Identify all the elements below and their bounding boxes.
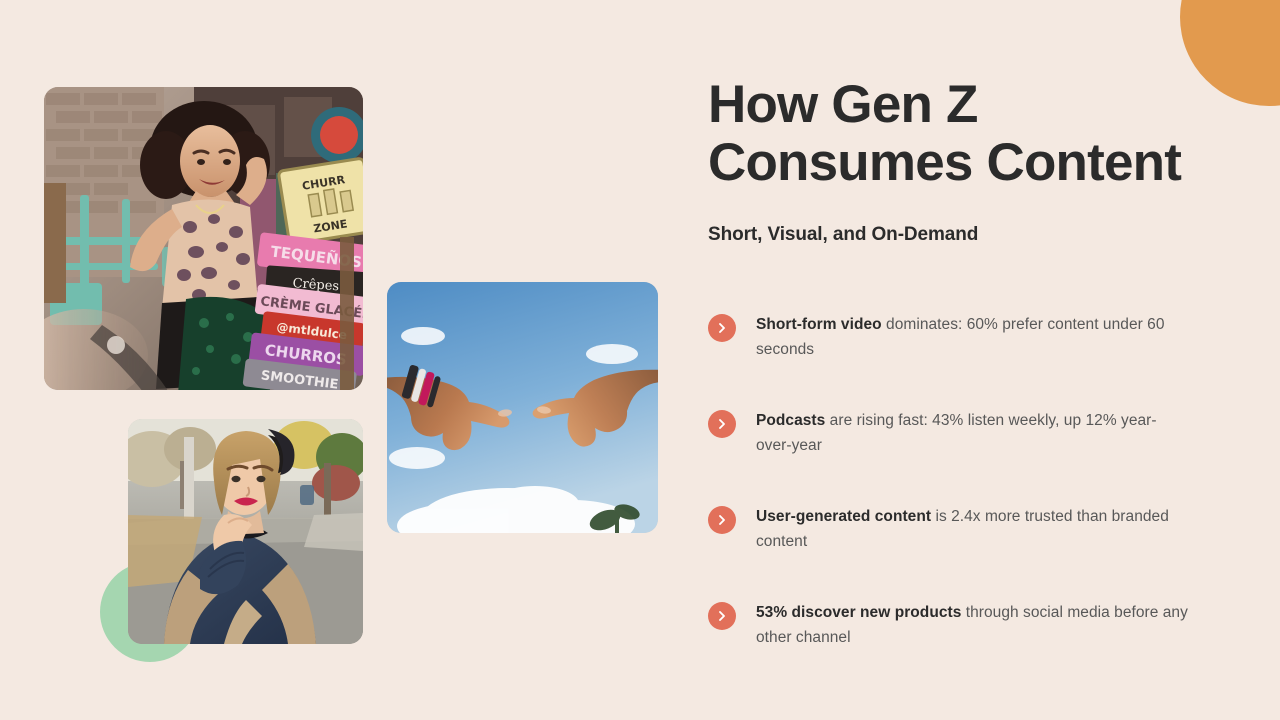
list-item-text: User-generated content is 2.4x more trus… [756,504,1188,554]
list-item-lead: 53% discover new products [756,604,961,621]
photo-woman-blue-jacket [128,419,363,644]
list-item-lead: Short-form video [756,316,882,333]
list-item: Podcasts are rising fast: 43% listen wee… [708,408,1188,458]
chevron-right-icon [708,314,736,342]
list-item-text: Short-form video dominates: 60% prefer c… [756,312,1188,362]
list-item-lead: User-generated content [756,508,931,525]
slide-canvas: CHURR ZONE TEQUEÑOS Crêpes [0,0,1280,720]
text-content-column: How Gen Z Consumes Content Short, Visual… [708,76,1208,246]
list-item-text: 53% discover new products through social… [756,600,1188,650]
chevron-right-icon [708,602,736,630]
list-item: User-generated content is 2.4x more trus… [708,504,1188,554]
photo-hands-pointing-sky [387,282,658,533]
page-title: How Gen Z Consumes Content [708,76,1208,192]
page-subtitle: Short, Visual, and On-Demand [708,224,1208,246]
bullet-list: Short-form video dominates: 60% prefer c… [708,312,1188,650]
photo-street-food-stall: CHURR ZONE TEQUEÑOS Crêpes [44,87,363,390]
list-item: 53% discover new products through social… [708,600,1188,650]
list-item-text: Podcasts are rising fast: 43% listen wee… [756,408,1188,458]
list-item: Short-form video dominates: 60% prefer c… [708,312,1188,362]
chevron-right-icon [708,506,736,534]
list-item-lead: Podcasts [756,412,825,429]
chevron-right-icon [708,410,736,438]
